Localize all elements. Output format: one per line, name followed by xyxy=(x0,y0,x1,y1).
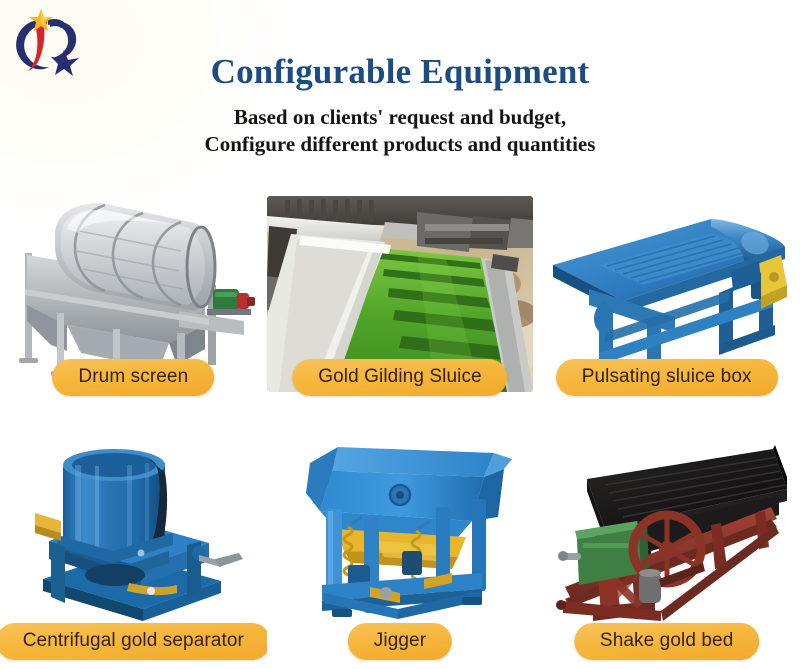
product-label-shake-gold-bed: Shake gold bed xyxy=(574,623,759,660)
product-card-gold-gilding-sluice[interactable]: Gold Gilding Sluice xyxy=(267,189,534,429)
product-card-pulsating-sluice-box[interactable]: Pulsating sluice box xyxy=(533,189,800,429)
page-subtitle: Based on clients' request and budget, Co… xyxy=(0,104,800,159)
product-label-drum-screen: Drum screen xyxy=(52,359,214,396)
product-label-pulsating-sluice-box: Pulsating sluice box xyxy=(556,359,778,396)
product-label-centrifugal-gold-separator: Centrifugal gold separator xyxy=(0,623,267,660)
subtitle-line-1: Based on clients' request and budget, xyxy=(0,104,800,131)
product-card-drum-screen[interactable]: Drum screen xyxy=(0,189,267,429)
jigger-machine-illustration xyxy=(276,433,524,631)
shaking-table-gold-bed-illustration xyxy=(543,433,791,631)
page-title: Configurable Equipment xyxy=(0,52,800,91)
product-card-jigger[interactable]: Jigger xyxy=(267,429,534,669)
subtitle-line-2: Configure different products and quantit… xyxy=(0,131,800,158)
product-card-centrifugal-gold-separator[interactable]: Centrifugal gold separator xyxy=(0,429,267,669)
product-grid: Drum screen xyxy=(0,189,800,669)
header: Configurable Equipment Based on clients'… xyxy=(0,52,800,159)
product-card-shake-gold-bed[interactable]: Shake gold bed xyxy=(533,429,800,669)
product-label-gold-gilding-sluice: Gold Gilding Sluice xyxy=(292,359,507,396)
centrifugal-gold-separator-illustration xyxy=(9,433,257,631)
product-label-jigger: Jigger xyxy=(348,623,452,660)
